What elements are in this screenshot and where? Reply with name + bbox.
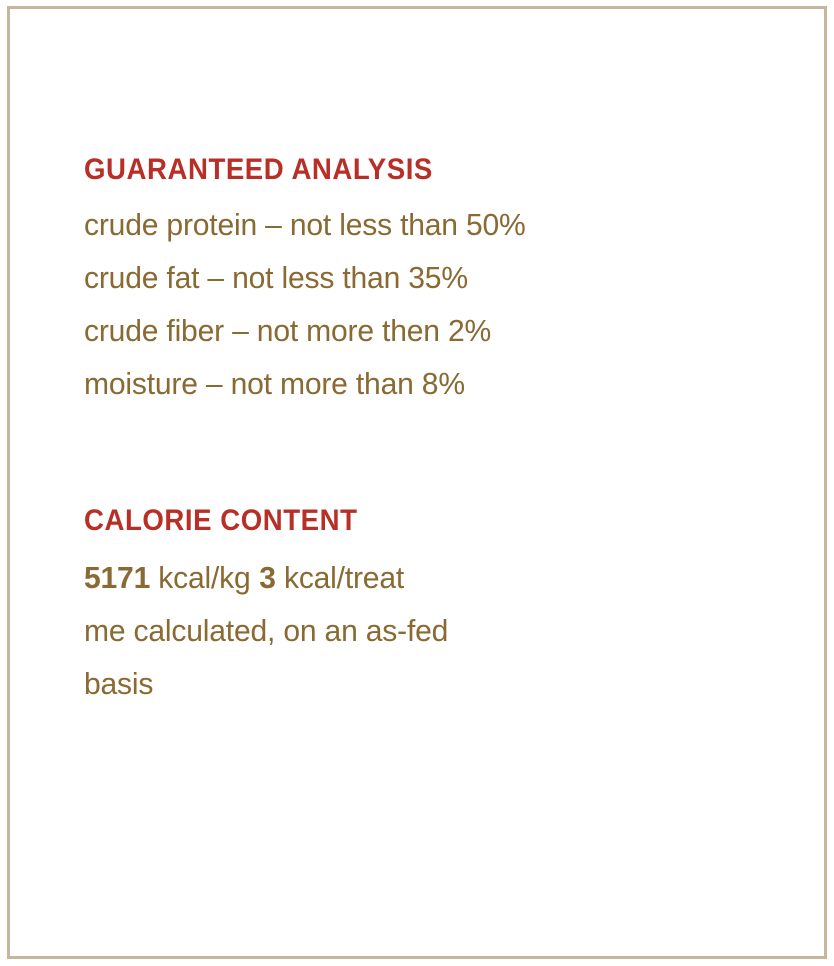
guaranteed-analysis-section: GUARANTEED ANALYSIS crude protein – not … (84, 152, 774, 410)
calorie-content-heading: CALORIE CONTENT (84, 503, 719, 539)
guaranteed-analysis-line: moisture – not more than 8% (84, 357, 753, 410)
kcal-per-treat-unit: kcal/treat (284, 560, 404, 595)
value-separator (251, 551, 260, 604)
kcal-per-kg-unit: kcal/kg (158, 560, 250, 595)
calorie-note-line: me calculated, on an as-fed (84, 604, 753, 657)
guaranteed-analysis-line: crude fat – not less than 35% (84, 251, 753, 304)
guaranteed-analysis-line: crude fiber – not more then 2% (84, 304, 753, 357)
calorie-note-line: basis (84, 657, 753, 710)
kcal-per-treat-value: 3 (259, 560, 276, 595)
calorie-content-section: CALORIE CONTENT 5171 kcal/kg 3 kcal/trea… (84, 503, 774, 710)
label-page: GUARANTEED ANALYSIS crude protein – not … (0, 0, 834, 966)
guaranteed-analysis-heading: GUARANTEED ANALYSIS (84, 152, 719, 188)
kcal-per-kg-value: 5171 (84, 560, 150, 595)
label-content: GUARANTEED ANALYSIS crude protein – not … (84, 152, 774, 710)
guaranteed-analysis-line: crude protein – not less than 50% (84, 198, 753, 251)
calorie-values-line: 5171 kcal/kg 3 kcal/treat (84, 551, 753, 604)
